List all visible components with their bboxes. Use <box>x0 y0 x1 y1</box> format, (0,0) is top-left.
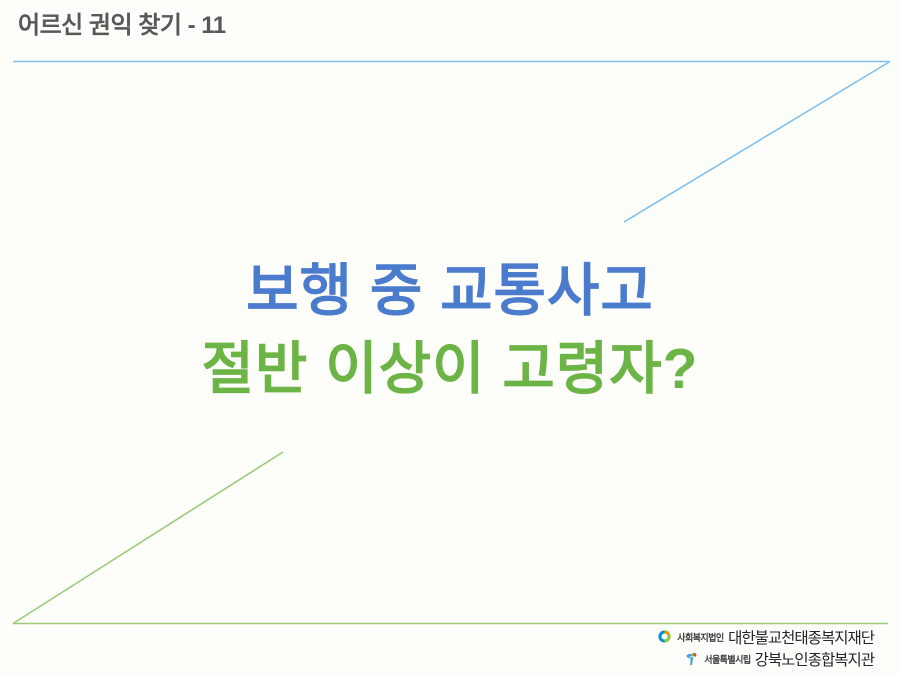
footer-row-center: 서울특별시립 강북노인종합복지관 <box>684 648 874 669</box>
title-line-primary: 보행 중 교통사고 <box>0 252 900 330</box>
slide-canvas: 어르신 권익 찾기 - 11 보행 중 교통사고 절반 이상이 고령자? 사회복… <box>0 0 900 675</box>
ring-logo-icon <box>657 629 672 644</box>
title-line-secondary: 절반 이상이 고령자? <box>0 330 900 408</box>
footer-row-foundation: 사회복지법인 대한불교천태종복지재단 <box>657 626 874 647</box>
main-title-block: 보행 중 교통사고 절반 이상이 고령자? <box>0 252 900 408</box>
green-diagonal-line <box>13 452 283 624</box>
blue-diagonal-line <box>624 62 890 223</box>
footer-logos: 사회복지법인 대한불교천태종복지재단 서울특별시립 강북노인종합복지관 <box>657 626 874 669</box>
footer-foundation-prefix: 사회복지법인 <box>678 630 724 644</box>
footer-foundation-name: 대한불교천태종복지재단 <box>728 626 874 648</box>
footer-center-prefix: 서울특별시립 <box>704 652 750 666</box>
page-title: 어르신 권익 찾기 - 11 <box>18 9 518 43</box>
seoul-figure-logo-icon <box>684 651 699 666</box>
slide-header: 어르신 권익 찾기 - 11 <box>18 9 518 45</box>
footer-center-name: 강북노인종합복지관 <box>755 648 874 670</box>
